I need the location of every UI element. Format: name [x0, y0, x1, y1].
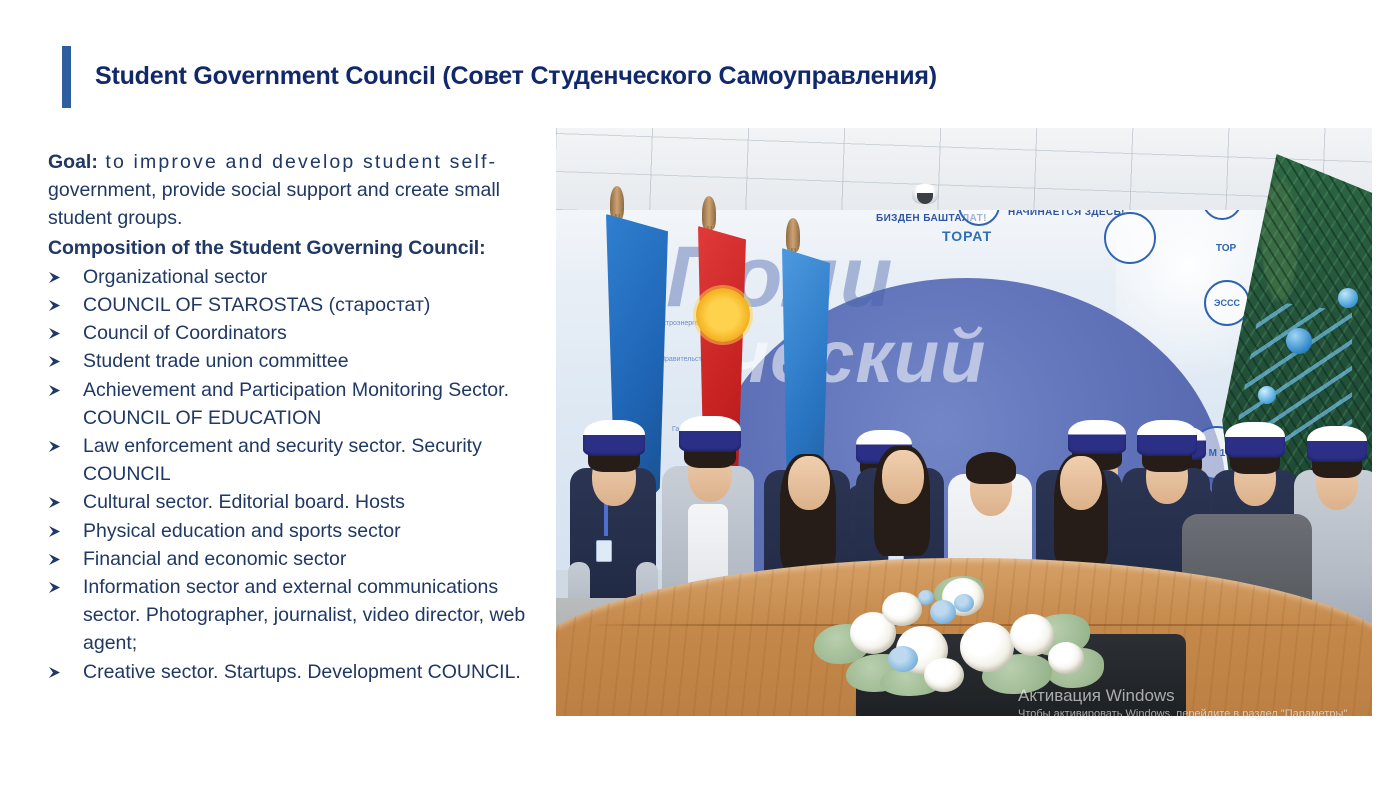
list-item-label: Information sector and external communic… [83, 576, 525, 654]
bullet-arrow-icon [48, 658, 61, 678]
bullet-arrow-icon [48, 573, 61, 593]
list-item-label: Student trade union committee [83, 350, 349, 372]
list-item-label: Achievement and Participation Monitoring… [83, 379, 509, 429]
list-item: Achievement and Participation Monitoring… [48, 376, 544, 432]
backdrop-logo-circle-icon [1104, 212, 1156, 264]
list-item: Information sector and external communic… [48, 573, 544, 658]
list-item-label: COUNCIL OF STAROSTAS (старостат) [83, 294, 430, 316]
goal-text-rest: government, provide social support and c… [48, 179, 500, 229]
group-photo: Поли ческий ИЙГИЛИККЕ ЖОЛ БИЗДЕН БАШТАЛА… [556, 128, 1372, 716]
list-item-label: Creative sector. Startups. Development C… [83, 661, 521, 683]
bullet-arrow-icon [48, 517, 61, 537]
list-item-label: Financial and economic sector [83, 548, 346, 570]
bullet-arrow-icon [48, 488, 61, 508]
list-item: Law enforcement and security sector. Sec… [48, 432, 544, 488]
ceiling [556, 128, 1372, 210]
bullet-arrow-icon [48, 545, 61, 565]
list-item: Student trade union committee [48, 347, 544, 375]
goal-label: Goal: [48, 151, 98, 173]
backdrop-logo-torat: ТОРАТ [942, 228, 1016, 254]
security-camera-icon [912, 184, 938, 204]
bullet-arrow-icon [48, 347, 61, 367]
slide: Student Government Council (Совет Студен… [0, 0, 1400, 788]
goal-paragraph: Goal: to improve and develop student sel… [48, 148, 544, 233]
backdrop-logo-tor: ТОР [1206, 228, 1246, 268]
list-item: COUNCIL OF STAROSTAS (старостат) [48, 291, 544, 319]
list-item: Physical education and sports sector [48, 517, 544, 545]
list-item-label: Organizational sector [83, 266, 267, 288]
list-item-label: Physical education and sports sector [83, 520, 401, 542]
tree-bauble [1338, 288, 1358, 308]
list-item: Creative sector. Startups. Development C… [48, 658, 544, 686]
watermark-title: Активация Windows [1018, 686, 1350, 706]
list-item-label: Council of Coordinators [83, 322, 287, 344]
content-text-column: Goal: to improve and develop student sel… [48, 148, 544, 686]
windows-activation-watermark: Активация Windows Чтобы активировать Win… [1018, 686, 1350, 722]
list-item: Financial and economic sector [48, 545, 544, 573]
slide-title-row: Student Government Council (Совет Студен… [62, 46, 937, 108]
watermark-subtitle: Чтобы активировать Windows, перейдите в … [1018, 707, 1350, 722]
list-item: Organizational sector [48, 263, 544, 291]
sectors-list: Organizational sector COUNCIL OF STAROST… [48, 263, 544, 686]
composition-heading: Composition of the Student Governing Cou… [48, 234, 544, 262]
flag-finial [786, 218, 800, 252]
page-title: Student Government Council (Совет Студен… [95, 46, 937, 106]
list-item-label: Law enforcement and security sector. Sec… [83, 435, 482, 485]
list-item: Council of Coordinators [48, 319, 544, 347]
flower-bouquet [814, 570, 1104, 696]
list-item-label: Cultural sector. Editorial board. Hosts [83, 491, 405, 513]
list-item: Cultural sector. Editorial board. Hosts [48, 488, 544, 516]
goal-text-line1: to improve and develop student self- [98, 151, 497, 173]
bullet-arrow-icon [48, 432, 61, 452]
title-accent-bar [62, 46, 71, 108]
bullet-arrow-icon [48, 376, 61, 396]
flag-finial [702, 196, 716, 230]
bullet-arrow-icon [48, 263, 61, 283]
bullet-arrow-icon [48, 319, 61, 339]
bullet-arrow-icon [48, 291, 61, 311]
